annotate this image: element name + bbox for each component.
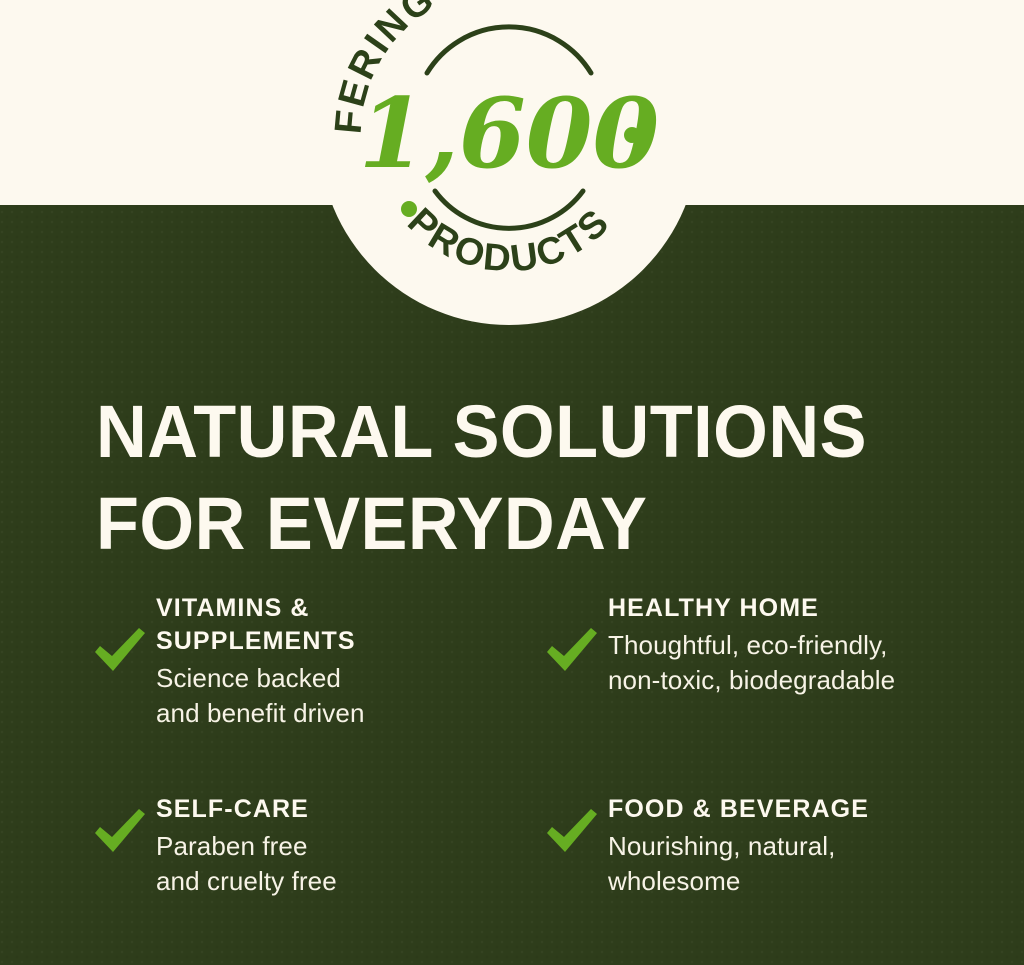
feature-description: Thoughtful, eco-friendly, non-toxic, bio… (608, 628, 990, 698)
feature-text: VITAMINS & SUPPLEMENTS Science backed an… (156, 592, 542, 731)
feature-title: HEALTHY HOME (608, 592, 990, 625)
headline-line-1: NATURAL SOLUTIONS (96, 386, 932, 478)
check-column (90, 793, 156, 899)
dot-icon-left (401, 201, 417, 217)
badge-bottom-arc-textpath: PRODUCTS (399, 200, 618, 280)
feature-description: Science backed and benefit driven (156, 661, 542, 731)
badge-product-count: 1,600 (359, 77, 660, 190)
check-column (542, 793, 608, 899)
check-icon (544, 807, 600, 855)
check-icon (544, 626, 600, 674)
headline-line-2: FOR EVERYDAY (96, 478, 932, 570)
feature-item-vitamins-supplements: VITAMINS & SUPPLEMENTS Science backed an… (90, 592, 542, 731)
feature-item-self-care: SELF-CARE Paraben free and cruelty free (90, 793, 542, 899)
arc-icon-top (427, 27, 591, 73)
promo-poster: OFFERING OVER PRODUCTS 1,600 NATURAL SOL… (0, 0, 1024, 965)
check-column (542, 592, 608, 731)
headline: NATURAL SOLUTIONS FOR EVERYDAY (96, 386, 976, 570)
feature-description: Nourishing, natural, wholesome (608, 829, 990, 899)
feature-description: Paraben free and cruelty free (156, 829, 542, 899)
feature-item-healthy-home: HEALTHY HOME Thoughtful, eco-friendly, n… (542, 592, 990, 731)
arc-icon-bottom (435, 191, 583, 228)
feature-text: HEALTHY HOME Thoughtful, eco-friendly, n… (608, 592, 990, 698)
badge-bottom-arc-text: PRODUCTS (399, 200, 618, 280)
feature-grid: VITAMINS & SUPPLEMENTS Science backed an… (90, 592, 990, 899)
feature-title: VITAMINS & SUPPLEMENTS (156, 592, 542, 658)
check-icon (92, 807, 148, 855)
feature-title: SELF-CARE (156, 793, 542, 826)
feature-title: FOOD & BEVERAGE (608, 793, 990, 826)
feature-item-food-beverage: FOOD & BEVERAGE Nourishing, natural, who… (542, 793, 990, 899)
feature-text: FOOD & BEVERAGE Nourishing, natural, who… (608, 793, 990, 899)
feature-text: SELF-CARE Paraben free and cruelty free (156, 793, 542, 899)
check-column (90, 592, 156, 731)
product-count-badge: OFFERING OVER PRODUCTS 1,600 (319, 0, 699, 325)
check-icon (92, 626, 148, 674)
